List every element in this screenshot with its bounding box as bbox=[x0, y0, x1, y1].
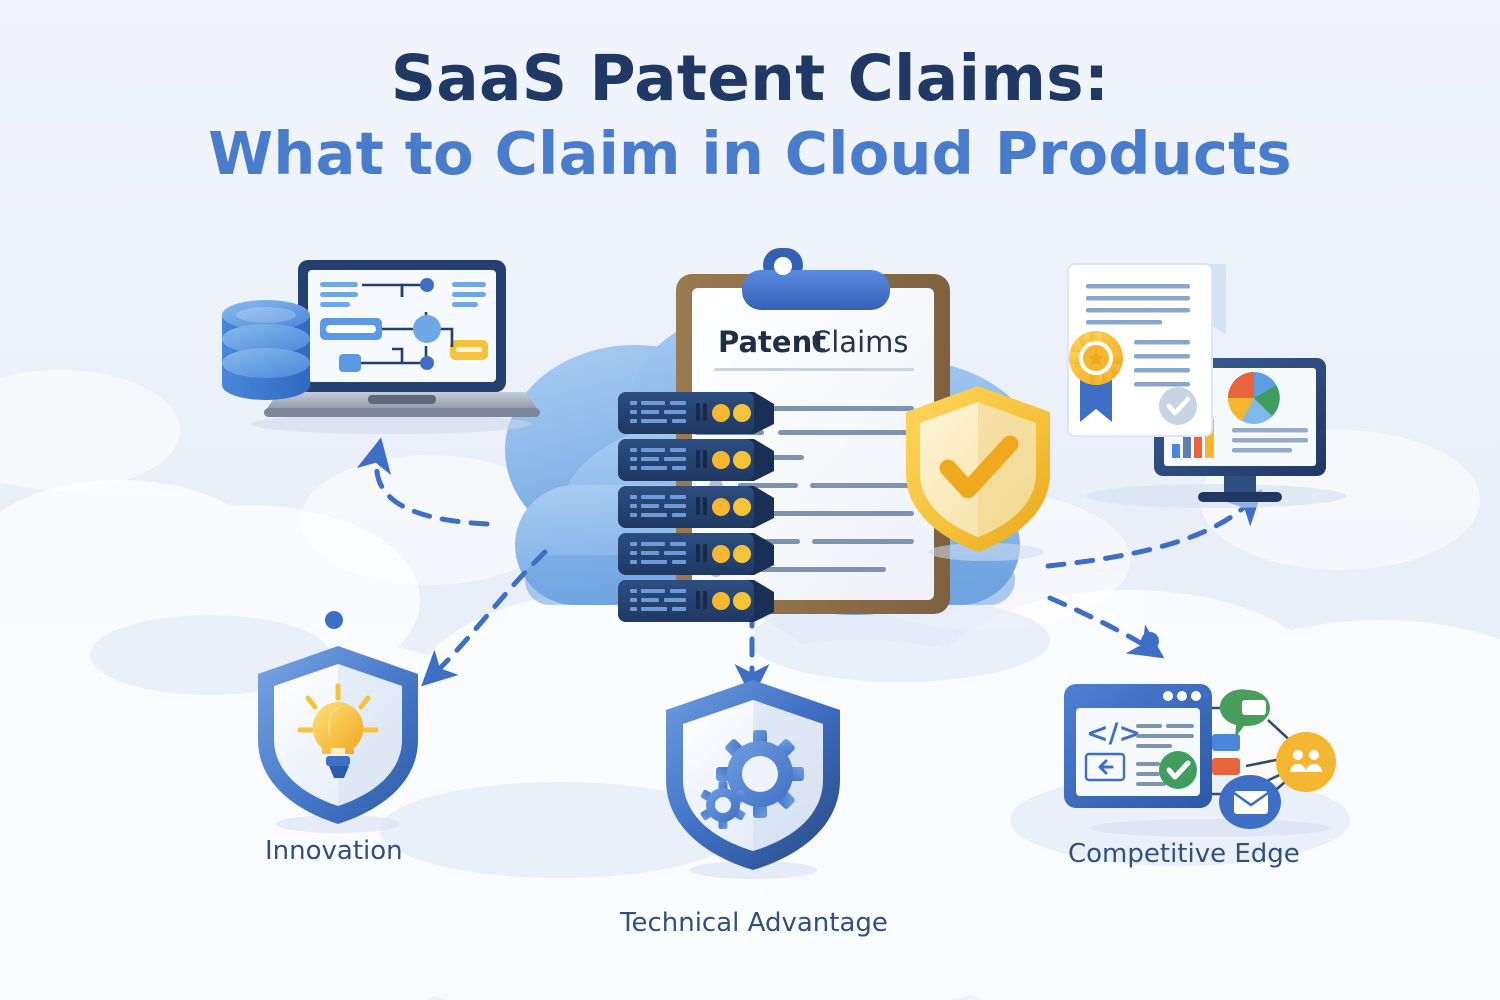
shield-gears-icon bbox=[660, 678, 846, 878]
connector-to-innovation bbox=[432, 552, 545, 676]
infographic-canvas: SaaS Patent Claims: What to Claim in Clo… bbox=[0, 0, 1500, 1000]
chat-bubble-node bbox=[1220, 689, 1270, 738]
server-stack-icon bbox=[614, 388, 784, 624]
node-label-competitive-edge: Competitive Edge bbox=[1068, 839, 1300, 869]
clipboard-heading-bold: Patent bbox=[718, 325, 826, 359]
email-node bbox=[1219, 775, 1281, 829]
code-browser-network-icon: </> bbox=[1060, 676, 1340, 836]
clipboard-heading-regular: Claims bbox=[811, 325, 909, 359]
connector-to-laptop bbox=[377, 452, 487, 524]
shield-lightbulb-icon bbox=[252, 644, 424, 832]
connector-dot-left bbox=[325, 611, 343, 629]
laptop-architecture-icon bbox=[216, 252, 546, 432]
node-label-innovation: Innovation bbox=[265, 836, 403, 866]
code-glyph: </> bbox=[1086, 718, 1141, 749]
connector-dot-right bbox=[1141, 632, 1159, 650]
certificate-award-icon bbox=[1068, 264, 1212, 436]
node-label-technical-advantage: Technical Advantage bbox=[620, 908, 888, 938]
clipboard-clip-icon bbox=[742, 248, 890, 310]
users-node bbox=[1276, 732, 1336, 792]
database-icon bbox=[222, 300, 310, 400]
connector-to-competitive bbox=[1050, 598, 1152, 650]
certificate-analytics-group bbox=[1046, 246, 1356, 511]
gold-shield-check-icon bbox=[898, 382, 1058, 560]
